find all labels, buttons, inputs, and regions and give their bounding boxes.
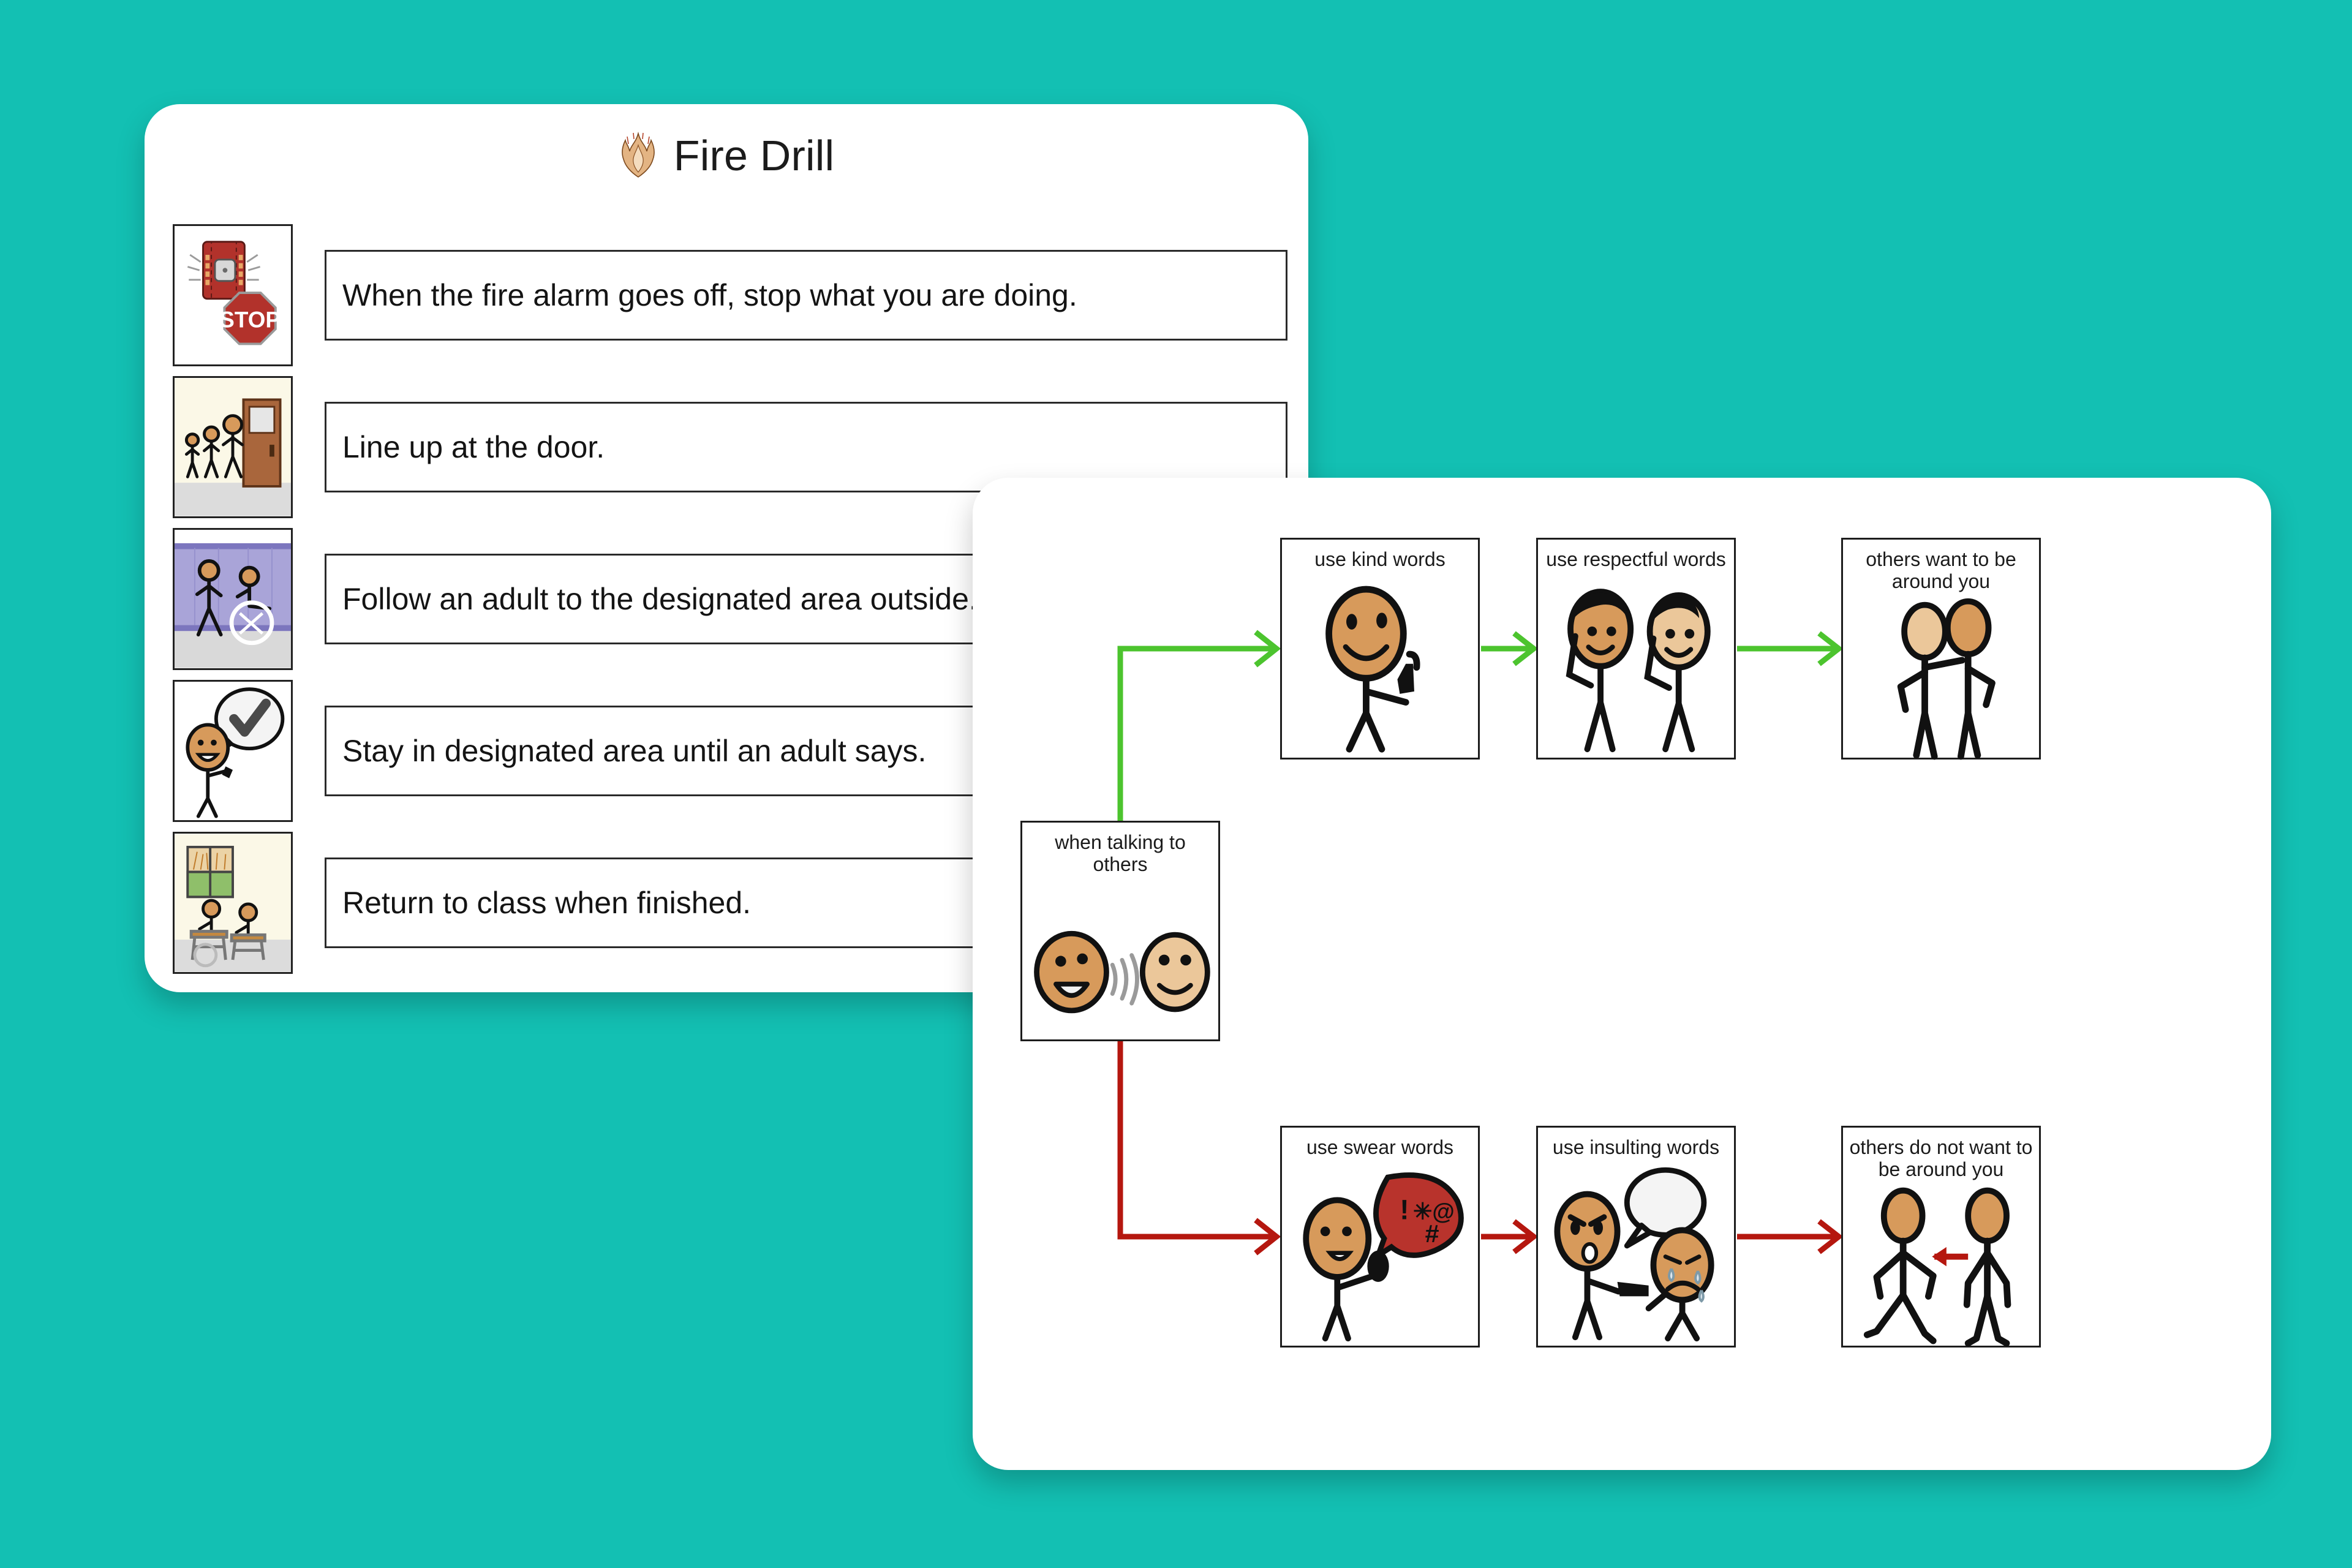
flow-node-others-want-around[interactable]: others want to be around you	[1841, 538, 2041, 759]
swear-bubble-person-icon: ! ✳ @ #	[1282, 1158, 1478, 1346]
flow-node-others-not-want-around[interactable]: others do not want to be around you	[1841, 1126, 2041, 1347]
svg-text:STOP: STOP	[219, 307, 281, 332]
svg-text:!: !	[1400, 1194, 1409, 1226]
node-label: use insulting words	[1549, 1136, 1723, 1158]
follow-adult-hallway-icon	[173, 528, 293, 670]
node-label: when talking to others	[1022, 831, 1218, 876]
list-item: STOP When the fire alarm goes off, stop …	[173, 219, 1287, 371]
node-label: others do not want to be around you	[1846, 1136, 2037, 1181]
flow-node-start[interactable]: when talking to others	[1020, 821, 1220, 1041]
fire-drill-title-row: Fire Drill	[145, 131, 1308, 180]
stay-in-area-checkmark-icon	[173, 680, 293, 822]
return-to-class-desks-icon	[173, 832, 293, 974]
node-label: others want to be around you	[1862, 548, 2019, 593]
page-title: Fire Drill	[674, 131, 835, 180]
node-label: use kind words	[1311, 548, 1449, 570]
flowchart: when talking to others	[973, 478, 2271, 1470]
thumbs-up-person-icon	[1282, 570, 1478, 758]
two-people-arm-around-icon	[1843, 593, 2039, 773]
flow-node-use-insulting-words[interactable]: use insulting words	[1536, 1126, 1736, 1347]
line-up-at-door-icon	[173, 376, 293, 518]
two-people-listening-icon	[1538, 570, 1734, 758]
flame-icon	[619, 132, 658, 179]
person-walking-away-icon	[1843, 1181, 2039, 1361]
flow-node-use-respectful-words[interactable]: use respectful words	[1536, 538, 1736, 759]
fire-alarm-stop-icon: STOP	[173, 224, 293, 366]
svg-text:#: #	[1425, 1220, 1439, 1248]
two-faces-talking-icon	[1022, 876, 1218, 1056]
talking-to-others-card: when talking to others	[973, 478, 2271, 1470]
flow-node-use-swear-words[interactable]: use swear words ! ✳ @ #	[1280, 1126, 1480, 1347]
node-label: use respectful words	[1542, 548, 1729, 570]
step-text: When the fire alarm goes off, stop what …	[325, 250, 1287, 341]
pointing-person-crying-person-icon	[1538, 1158, 1734, 1346]
node-label: use swear words	[1303, 1136, 1457, 1158]
flow-node-use-kind-words[interactable]: use kind words	[1280, 538, 1480, 759]
